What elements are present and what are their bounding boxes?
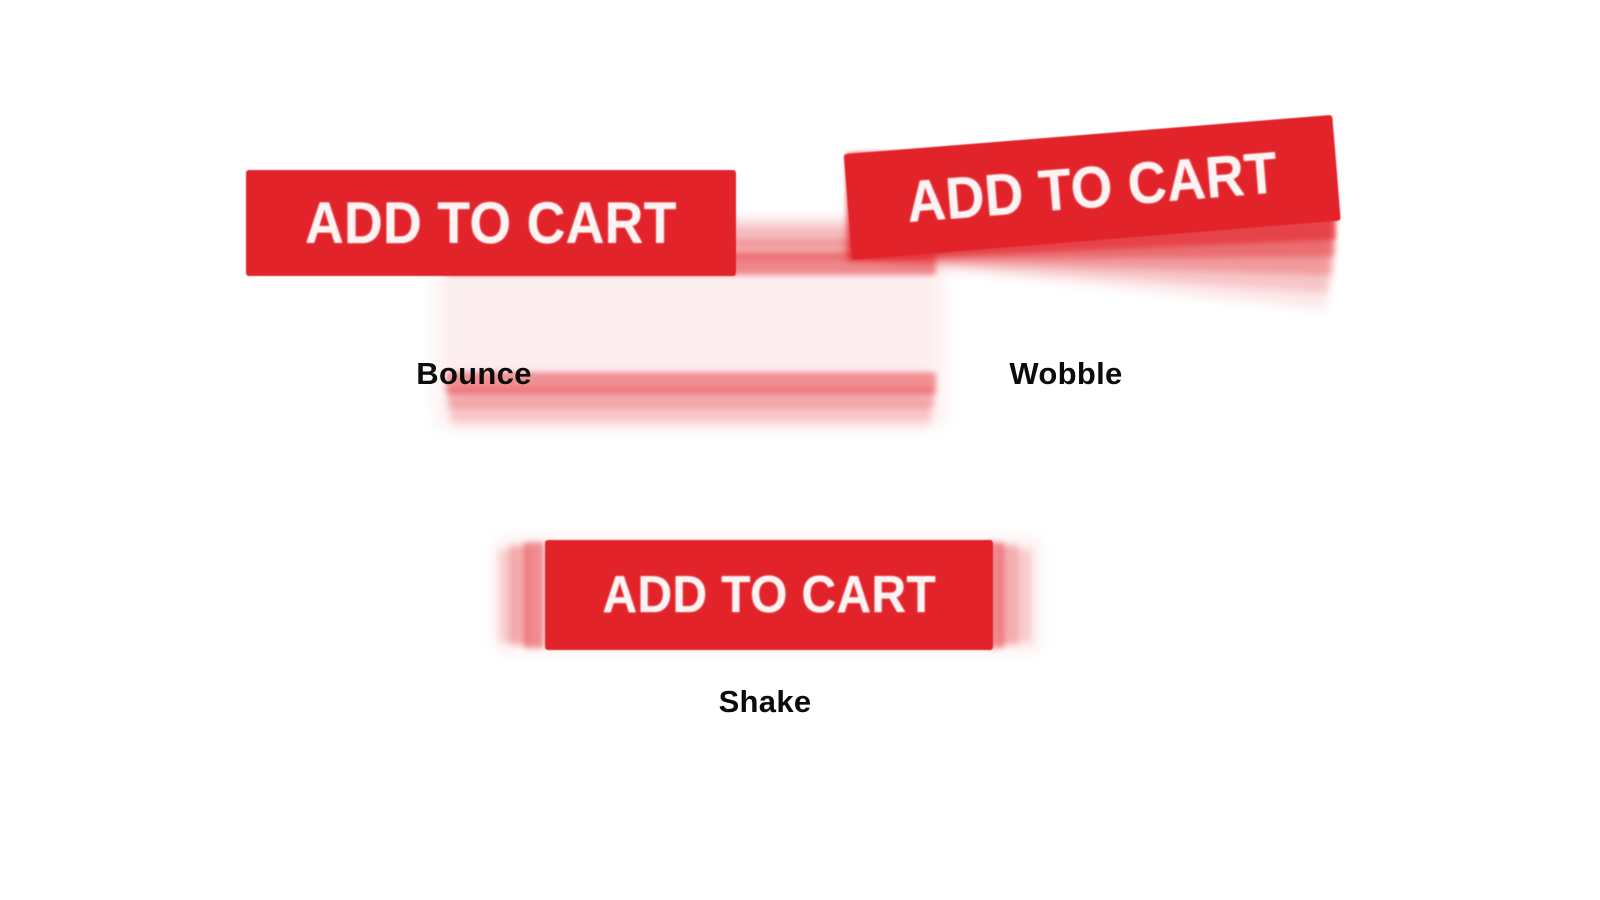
add-to-cart-button-wobble[interactable]: ADD TO CART: [844, 115, 1341, 260]
caption-wobble: Wobble: [1009, 356, 1122, 392]
shake-demo: ADD TO CART: [470, 500, 1070, 690]
add-to-cart-button-shake[interactable]: ADD TO CART: [545, 540, 993, 650]
caption-shake: Shake: [719, 684, 812, 720]
shake-button-area: ADD TO CART: [470, 500, 1070, 690]
bounce-ghost-down-4: [452, 413, 930, 428]
add-to-cart-button-label: ADD TO CART: [602, 565, 936, 625]
add-to-cart-button-label: ADD TO CART: [904, 139, 1280, 236]
wobble-demo: ADD TO CART: [810, 80, 1390, 350]
bounce-button-area: ADD TO CART: [200, 100, 760, 350]
add-to-cart-button-label: ADD TO CART: [305, 190, 677, 257]
add-to-cart-button-bounce[interactable]: ADD TO CART: [246, 170, 736, 276]
wobble-button-area: ADD TO CART: [810, 80, 1390, 350]
caption-bounce: Bounce: [416, 356, 531, 392]
animation-demo-stage: ADD TO CART Bounce ADD TO CART Wobble AD…: [0, 0, 1600, 900]
bounce-ghost-down-3: [450, 402, 932, 420]
bounce-demo: ADD TO CART: [200, 100, 760, 350]
